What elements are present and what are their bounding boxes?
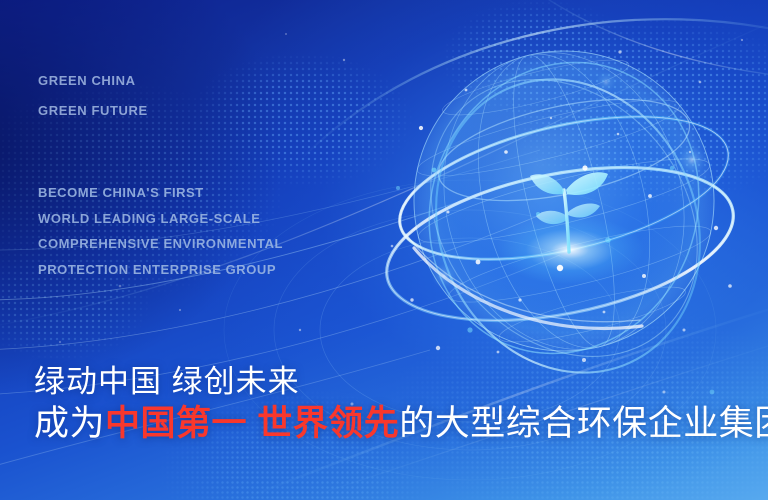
chinese-headline-prefix: 成为	[34, 404, 105, 443]
english-slogan-line-4: PROTECTION ENTERPRISE GROUP	[38, 257, 283, 283]
english-tagline-line-1: GREEN CHINA	[38, 66, 148, 96]
promo-banner: GREEN CHINA GREEN FUTURE BECOME CHINA'S …	[0, 0, 768, 500]
chinese-headline: 绿动中国 绿创未来 成为中国第一 世界领先的大型综合环保企业集团	[34, 362, 768, 446]
english-slogan-line-1: BECOME CHINA'S FIRST	[38, 180, 283, 206]
english-slogan-line-3: COMPREHENSIVE ENVIRONMENTAL	[38, 231, 283, 257]
english-slogan: BECOME CHINA'S FIRST WORLD LEADING LARGE…	[38, 180, 283, 282]
chinese-headline-line-1: 绿动中国 绿创未来	[34, 362, 768, 402]
chinese-headline-highlight: 中国第一 世界领先	[105, 404, 399, 443]
english-tagline-line-2: GREEN FUTURE	[38, 96, 148, 126]
english-slogan-line-2: WORLD LEADING LARGE-SCALE	[38, 206, 283, 232]
english-tagline: GREEN CHINA GREEN FUTURE	[38, 66, 148, 126]
chinese-headline-line-2: 成为中国第一 世界领先的大型综合环保企业集团	[34, 402, 768, 446]
chinese-headline-suffix: 的大型综合环保企业集团	[399, 404, 768, 443]
